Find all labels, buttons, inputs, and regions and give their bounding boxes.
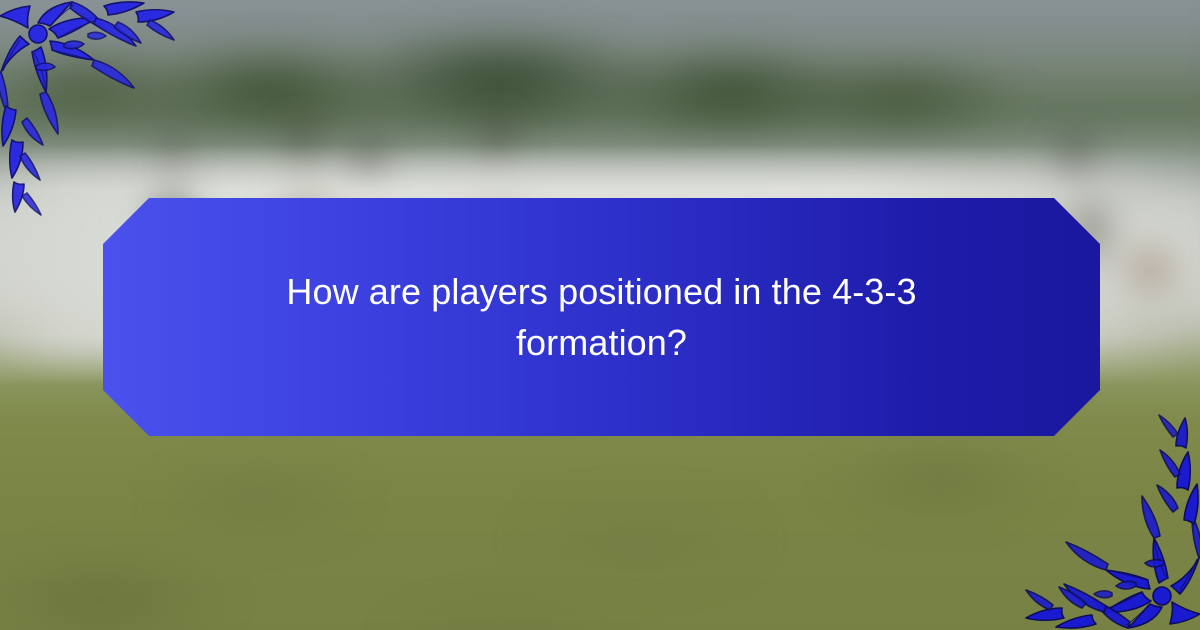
question-title: How are players positioned in the 4-3-3 … <box>252 266 952 368</box>
question-banner: How are players positioned in the 4-3-3 … <box>103 198 1100 436</box>
question-card: How are players positioned in the 4-3-3 … <box>0 0 1200 630</box>
